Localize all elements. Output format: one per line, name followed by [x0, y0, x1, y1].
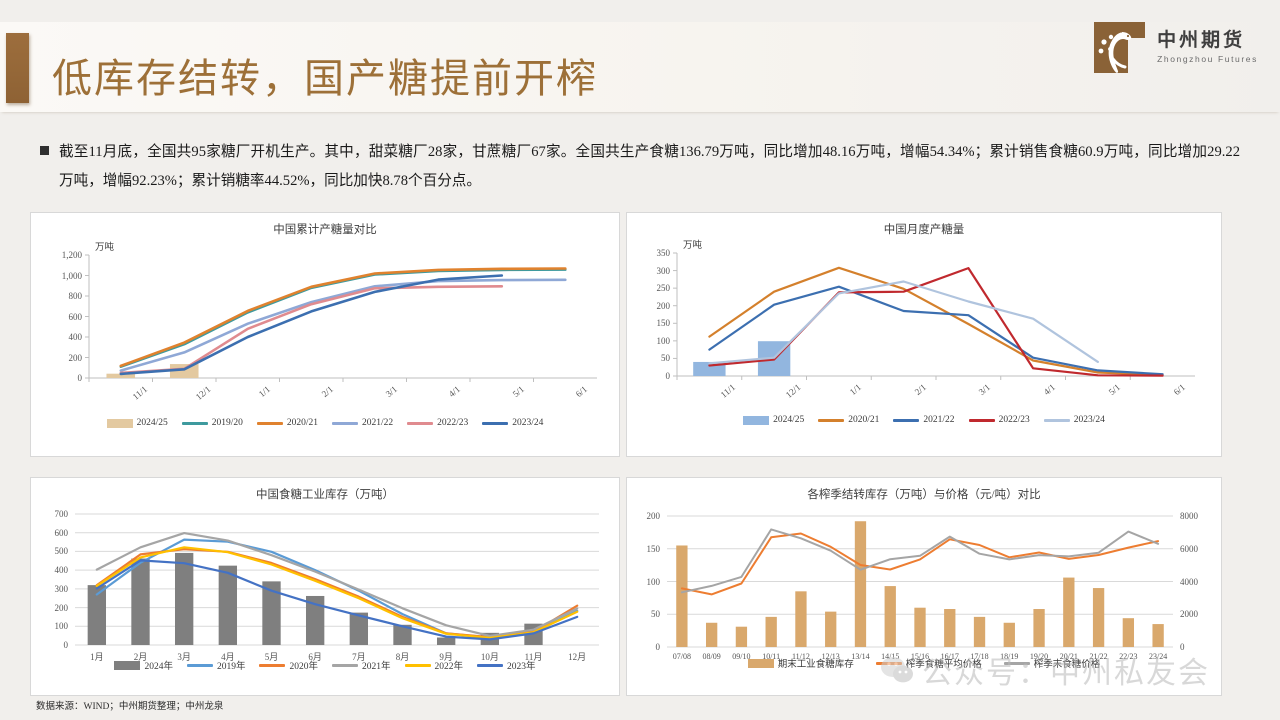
y-axis-tick-label: 50 — [627, 609, 660, 619]
y-axis-tick-label: 200 — [627, 511, 660, 521]
y-axis-tick-label: 350 — [627, 248, 670, 258]
series-line — [121, 286, 502, 373]
right-axis-tick-label: 6000 — [1180, 544, 1198, 554]
y-axis-tick-label: 800 — [31, 291, 82, 301]
series-line — [121, 276, 502, 374]
y-axis-tick-label: 50 — [627, 353, 670, 363]
legend-item[interactable]: 榨季末食糖价格 — [1004, 656, 1101, 670]
bar — [437, 638, 455, 645]
legend-item[interactable]: 2019年 — [187, 658, 246, 672]
bar — [974, 617, 985, 647]
bar — [944, 609, 955, 647]
legend-item[interactable]: 2019/20 — [182, 418, 243, 428]
legend-swatch — [107, 419, 133, 428]
y-axis-tick-label: 700 — [31, 509, 68, 519]
series-line — [682, 529, 1158, 592]
legend-label: 榨季食糖平均价格 — [906, 656, 982, 670]
right-axis-tick-label: 4000 — [1180, 577, 1198, 587]
legend-item[interactable]: 榨季食糖平均价格 — [876, 656, 982, 670]
legend-swatch — [743, 416, 769, 425]
legend-swatch — [477, 664, 503, 667]
legend-label: 2021年 — [362, 658, 391, 672]
bar — [736, 627, 747, 647]
legend-swatch — [969, 419, 995, 422]
bar — [1063, 578, 1074, 647]
legend-item[interactable]: 2024/25 — [107, 418, 168, 428]
legend-item[interactable]: 2020年 — [259, 658, 318, 672]
y-axis-tick-label: 600 — [31, 528, 68, 538]
bar — [1152, 624, 1163, 647]
legend-item[interactable]: 2022/23 — [407, 418, 468, 428]
legend-label: 2020/21 — [848, 415, 879, 425]
legend-label: 2019年 — [217, 658, 246, 672]
legend-swatch — [748, 659, 774, 668]
series-line — [682, 534, 1158, 595]
y-axis-tick-label: 400 — [31, 565, 68, 575]
legend-swatch — [405, 664, 431, 667]
bar — [855, 521, 866, 647]
chart-panel-monthly-sugar[interactable]: 中国月度产糖量万吨05010015020025030035011/112/11/… — [626, 212, 1222, 457]
legend-label: 2020年 — [289, 658, 318, 672]
y-axis-tick-label: 150 — [627, 544, 660, 554]
legend-swatch — [187, 664, 213, 667]
legend-label: 榨季末食糖价格 — [1034, 656, 1101, 670]
right-axis-tick-label: 0 — [1180, 642, 1185, 652]
chart-legend: 2024/252020/212021/222022/232023/24 — [627, 415, 1221, 425]
legend-label: 2023/24 — [512, 418, 543, 428]
y-axis-tick-label: 0 — [31, 373, 82, 383]
y-axis-tick-label: 200 — [627, 301, 670, 311]
legend-swatch — [818, 419, 844, 422]
page-title: 低库存结转，国产糖提前开榨 — [52, 46, 598, 104]
legend-swatch — [332, 422, 358, 425]
chart-panel-industrial-inventory[interactable]: 中国食糖工业库存（万吨）01002003004005006007001月2月3月… — [30, 477, 620, 696]
legend-label: 2021/22 — [362, 418, 393, 428]
legend-item[interactable]: 期末工业食糖库存 — [748, 656, 854, 670]
legend-swatch — [114, 661, 140, 670]
bar — [219, 566, 237, 645]
series-line — [121, 280, 566, 371]
legend-swatch — [257, 422, 283, 425]
right-axis-tick-label: 8000 — [1180, 511, 1198, 521]
legend-item[interactable]: 2024/25 — [743, 415, 804, 425]
chart-legend: 期末工业食糖库存榨季食糖平均价格榨季末食糖价格 — [627, 656, 1221, 670]
chart-panel-season-carryover[interactable]: 各榨季结转库存（万吨）与价格（元/吨）对比0501001502000200040… — [626, 477, 1222, 696]
y-axis-tick-label: 200 — [31, 353, 82, 363]
legend-label: 2022年 — [435, 658, 464, 672]
legend-label: 2023年 — [507, 658, 536, 672]
y-axis-tick-label: 1,000 — [31, 271, 82, 281]
bullet-square-icon — [40, 146, 49, 155]
legend-label: 2024年 — [144, 658, 173, 672]
legend-label: 2020/21 — [287, 418, 318, 428]
legend-item[interactable]: 2023/24 — [482, 418, 543, 428]
legend-label: 2019/20 — [212, 418, 243, 428]
y-axis-tick-label: 150 — [627, 318, 670, 328]
y-axis-tick-label: 100 — [31, 621, 68, 631]
series-line — [97, 547, 577, 638]
legend-label: 2021/22 — [923, 415, 954, 425]
y-axis-tick-label: 500 — [31, 546, 68, 556]
y-axis-tick-label: 600 — [31, 312, 82, 322]
bar — [885, 586, 896, 647]
bar — [131, 559, 149, 645]
logo-text-cn: 中州期货 — [1157, 31, 1258, 52]
chart-legend: 2024/252019/202020/212021/222022/232023/… — [31, 418, 619, 428]
brand-logo: 中州期货 Zhongzhou Futures — [1092, 20, 1258, 75]
y-axis-tick-label: 100 — [627, 336, 670, 346]
legend-swatch — [876, 662, 902, 665]
title-accent-bar — [6, 33, 29, 103]
bar — [175, 553, 193, 645]
bar — [676, 545, 687, 647]
legend-label: 2023/24 — [1074, 415, 1105, 425]
bullet-paragraph: 截至11月底，全国共95家糖厂开机生产。其中，甜菜糖厂28家，甘蔗糖厂67家。全… — [40, 138, 1240, 196]
y-axis-tick-label: 250 — [627, 283, 670, 293]
legend-swatch — [1004, 662, 1030, 665]
legend-item[interactable]: 2020/21 — [818, 415, 879, 425]
bar — [766, 617, 777, 647]
chart-legend: 2024年2019年2020年2021年2022年2023年 — [31, 658, 619, 672]
bullet-text: 截至11月底，全国共95家糖厂开机生产。其中，甜菜糖厂28家，甘蔗糖厂67家。全… — [59, 138, 1240, 196]
series-line — [97, 560, 577, 639]
y-axis-tick-label: 400 — [31, 332, 82, 342]
legend-item[interactable]: 2024年 — [114, 658, 173, 672]
y-axis-tick-label: 1,200 — [31, 250, 82, 260]
legend-swatch — [893, 419, 919, 422]
y-axis-tick-label: 0 — [627, 371, 670, 381]
bar — [795, 591, 806, 647]
legend-item[interactable]: 2022/23 — [969, 415, 1030, 425]
legend-item[interactable]: 2021年 — [332, 658, 391, 672]
right-axis-tick-label: 2000 — [1180, 609, 1198, 619]
zhongzhou-leopard-icon — [1092, 20, 1147, 75]
legend-item[interactable]: 2023年 — [477, 658, 536, 672]
legend-label: 2024/25 — [137, 418, 168, 428]
legend-label: 2024/25 — [773, 415, 804, 425]
y-axis-tick-label: 100 — [627, 577, 660, 587]
legend-item[interactable]: 2022年 — [405, 658, 464, 672]
legend-item[interactable]: 2023/24 — [1044, 415, 1105, 425]
bar — [1123, 618, 1134, 647]
bar — [825, 612, 836, 647]
y-axis-tick-label: 300 — [31, 584, 68, 594]
legend-item[interactable]: 2021/22 — [893, 415, 954, 425]
bar — [706, 623, 717, 647]
legend-swatch — [1044, 419, 1070, 422]
legend-swatch — [182, 422, 208, 425]
y-axis-tick-label: 0 — [31, 640, 68, 650]
y-axis-tick-label: 300 — [627, 266, 670, 276]
legend-item[interactable]: 2021/22 — [332, 418, 393, 428]
y-axis-tick-label: 0 — [627, 642, 660, 652]
legend-item[interactable]: 2020/21 — [257, 418, 318, 428]
bar — [1033, 609, 1044, 647]
bar — [1093, 588, 1104, 647]
y-axis-tick-label: 200 — [31, 603, 68, 613]
legend-swatch — [259, 664, 285, 667]
data-source-note: 数据来源：WIND；中州期货整理；中州龙泉 — [36, 698, 223, 712]
legend-swatch — [407, 422, 433, 425]
logo-text-en: Zhongzhou Futures — [1157, 54, 1258, 64]
legend-label: 期末工业食糖库存 — [778, 656, 854, 670]
legend-label: 2022/23 — [999, 415, 1030, 425]
bar — [914, 608, 925, 647]
chart-panel-cumulative-sugar[interactable]: 中国累计产糖量对比万吨02004006008001,0001,20011/112… — [30, 212, 620, 457]
legend-swatch — [332, 664, 358, 667]
bar — [1004, 623, 1015, 647]
legend-swatch — [482, 422, 508, 425]
legend-label: 2022/23 — [437, 418, 468, 428]
